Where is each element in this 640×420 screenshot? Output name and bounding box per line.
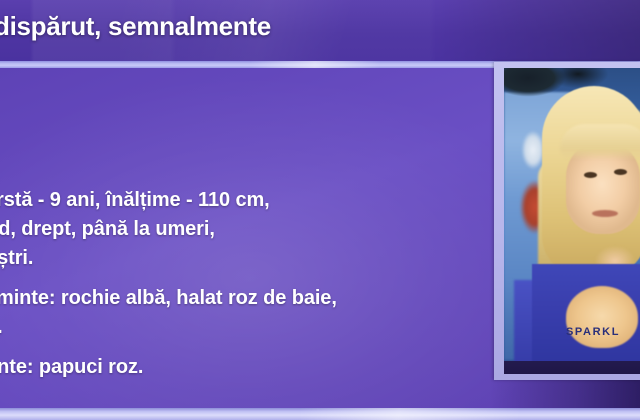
- photo-bangs: [560, 124, 640, 160]
- photo-inner: SPARKL: [504, 68, 640, 374]
- divider-highlight: [250, 61, 380, 68]
- header-band: dispărut, semnalmente: [0, 0, 640, 62]
- bottom-band-highlight: [300, 408, 520, 420]
- description-line: vârstă - 9 ani, înălțime - 110 cm,: [0, 186, 494, 215]
- description-line: baștri.: [0, 244, 494, 273]
- photo-mouth: [592, 210, 618, 217]
- description-line: căminte: rochie albă, halat roz de baie,: [0, 284, 494, 313]
- description-text-block: vârstă - 9 ani, înălțime - 110 cm, ond, …: [0, 186, 494, 382]
- description-line: gă.: [0, 313, 494, 342]
- photo-bottom-strip: [504, 361, 640, 374]
- page-title: dispărut, semnalmente: [0, 11, 514, 42]
- broadcast-graphic: dispărut, semnalmente vârstă - 9 ani, în…: [0, 0, 640, 420]
- description-line: ond, drept, până la umeri,: [0, 215, 494, 244]
- photo-shirt-text: SPARKL: [566, 326, 640, 338]
- photo-shirt-heart-graphic: [566, 286, 638, 348]
- description-line: minte: papuci roz.: [0, 353, 494, 382]
- photo-eye-left: [584, 172, 597, 178]
- subject-photo: SPARKL: [504, 68, 640, 361]
- photo-eye-right: [614, 169, 627, 175]
- photo-frame: SPARKL: [494, 62, 640, 380]
